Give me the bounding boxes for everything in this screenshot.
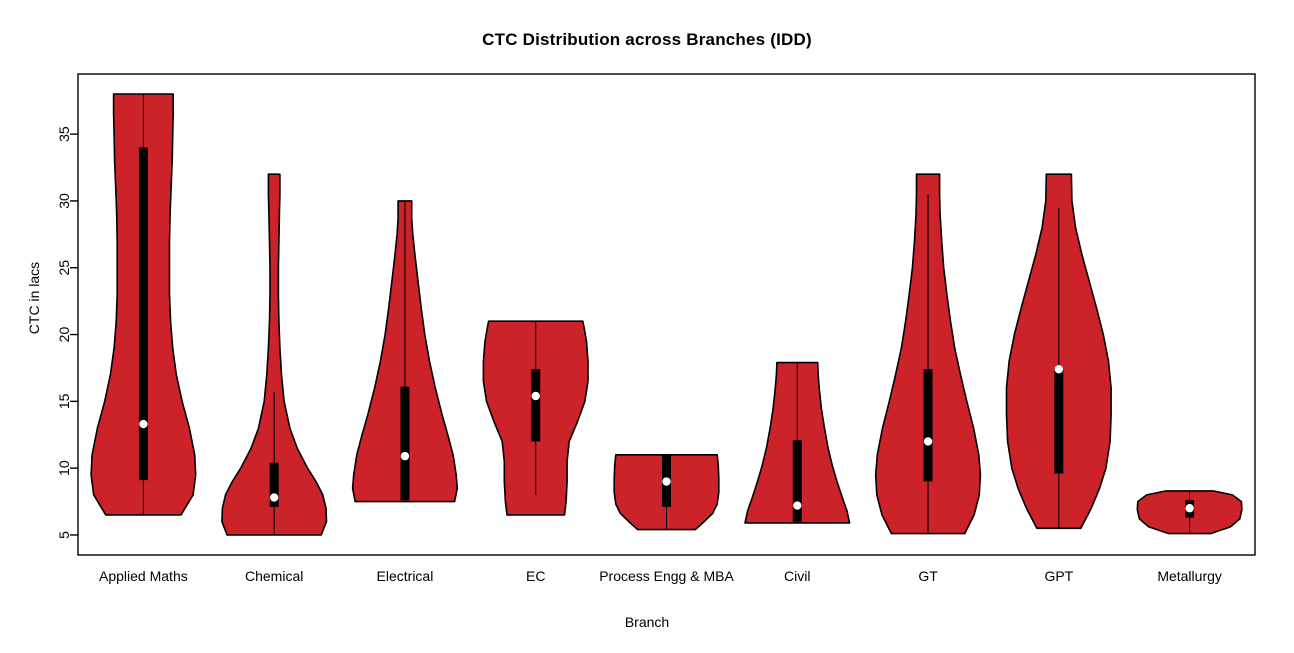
y-axis-tick-label: 10 xyxy=(56,460,72,476)
x-axis-category-label: GT xyxy=(918,568,938,584)
median-marker xyxy=(532,392,540,400)
median-marker xyxy=(401,452,409,460)
violin-plot-figure: CTC Distribution across Branches (IDD) C… xyxy=(0,0,1294,653)
median-marker xyxy=(1055,365,1063,373)
median-marker xyxy=(1185,504,1193,512)
x-axis-category-label: Metallurgy xyxy=(1157,568,1222,584)
plot-canvas: 5101520253035Applied MathsChemicalElectr… xyxy=(0,0,1294,653)
violin-gt xyxy=(876,174,981,533)
violin-ec xyxy=(483,321,588,515)
y-axis-tick-label: 35 xyxy=(56,126,72,142)
y-axis-tick-label: 30 xyxy=(56,193,72,209)
median-marker xyxy=(924,437,932,445)
y-axis-tick-label: 15 xyxy=(56,393,72,409)
violin-metallurgy xyxy=(1137,491,1242,534)
x-axis-category-label: GPT xyxy=(1044,568,1073,584)
violin-gpt xyxy=(1007,174,1112,528)
x-axis-category-label: Civil xyxy=(784,568,810,584)
x-axis-category-label: Process Engg & MBA xyxy=(599,568,734,584)
violin-civil xyxy=(745,363,850,523)
median-marker xyxy=(662,477,670,485)
x-axis-category-label: Chemical xyxy=(245,568,303,584)
x-axis-category-label: Applied Maths xyxy=(99,568,188,584)
y-axis-tick-label: 5 xyxy=(56,531,72,539)
y-axis-tick-label: 20 xyxy=(56,327,72,343)
median-marker xyxy=(270,493,278,501)
x-axis-category-label: Electrical xyxy=(377,568,434,584)
x-axis-category-label: EC xyxy=(526,568,545,584)
violin-chemical xyxy=(222,174,327,535)
median-marker xyxy=(139,420,147,428)
y-axis-tick-label: 25 xyxy=(56,260,72,276)
violin-applied-maths xyxy=(91,94,196,515)
violin-electrical xyxy=(353,201,458,502)
violin-process-engg-mba xyxy=(614,455,719,530)
median-marker xyxy=(793,501,801,509)
